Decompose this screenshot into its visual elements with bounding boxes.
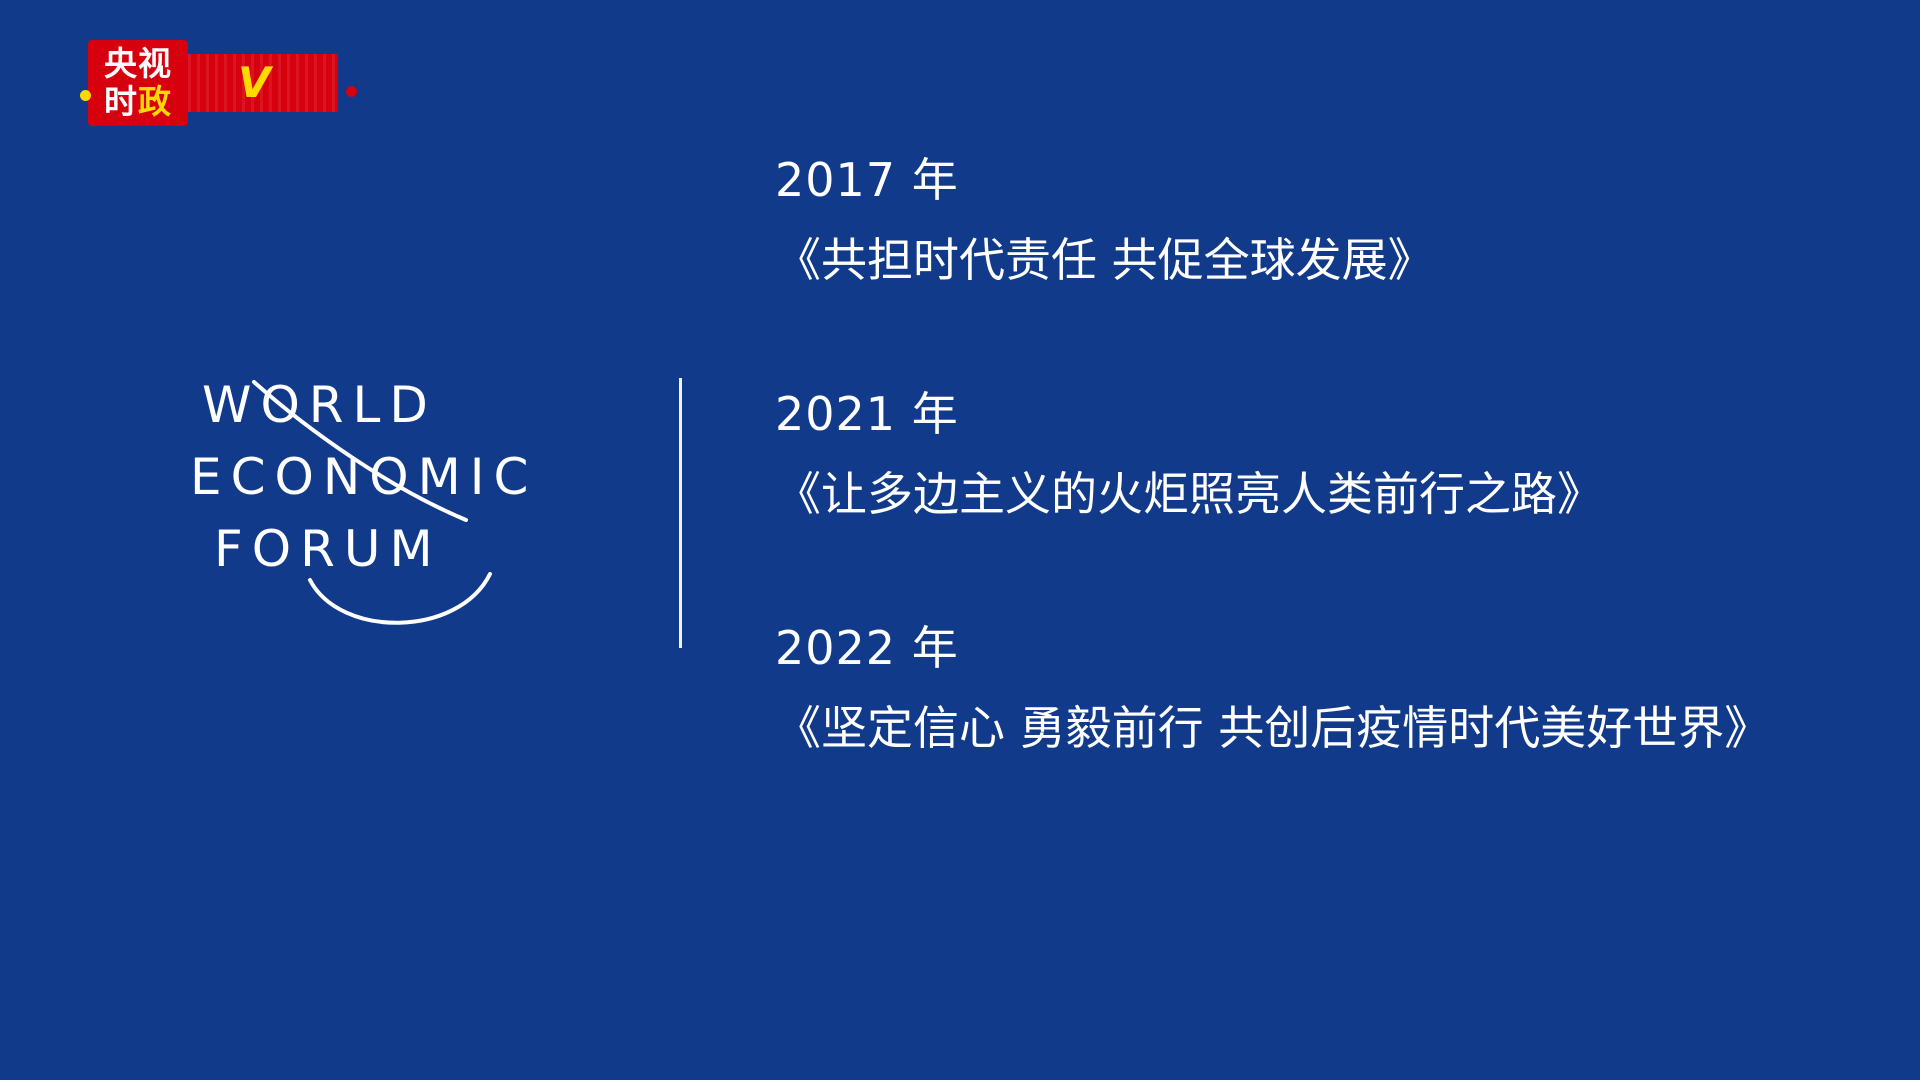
speech-entry-list: 2017 年 《共担时代责任 共促全球发展》 2021 年 《让多边主义的火炬照… [775,150,1855,760]
watermark-line2-left: 时 [104,82,138,121]
entry-year: 2022 年 [775,618,1855,678]
watermark-line2-right: 政 [138,82,172,121]
wef-logo-arc-icon [310,574,490,623]
entry-title: 《让多边主义的火炬照亮人类前行之路》 [775,462,1855,526]
entry-title: 《共担时代责任 共促全球发展》 [775,228,1855,292]
entry-title: 《坚定信心 勇毅前行 共创后疫情时代美好世界》 [775,696,1855,760]
watermark-text: 央视 时政 [96,45,180,121]
list-item: 2021 年 《让多边主义的火炬照亮人类前行之路》 [775,384,1855,526]
watermark-line1: 央视 [96,45,180,83]
watermark-red-dot-icon [346,86,357,97]
world-economic-forum-logo: WORLD ECONOMIC FORUM [190,370,620,660]
vertical-divider [679,378,682,648]
wef-logo-line1: WORLD [202,376,437,434]
entry-year: 2021 年 [775,384,1855,444]
entry-year: 2017 年 [775,150,1855,210]
list-item: 2017 年 《共担时代责任 共促全球发展》 [775,150,1855,292]
watermark-yellow-dot-icon [80,90,91,101]
watermark-line2: 时政 [96,83,180,121]
wef-logo-line3: FORUM [214,520,442,578]
watermark-v-icon: V [238,62,284,104]
wef-logo-line2: ECONOMIC [190,448,537,506]
cctv-politics-watermark: V 央视 时政 [60,40,380,126]
list-item: 2022 年 《坚定信心 勇毅前行 共创后疫情时代美好世界》 [775,618,1855,760]
slide-canvas: V 央视 时政 WORLD ECONOMIC FORUM 2017 年 《共担时… [0,0,1920,1080]
wef-logo-graphic: WORLD ECONOMIC FORUM [190,370,620,660]
